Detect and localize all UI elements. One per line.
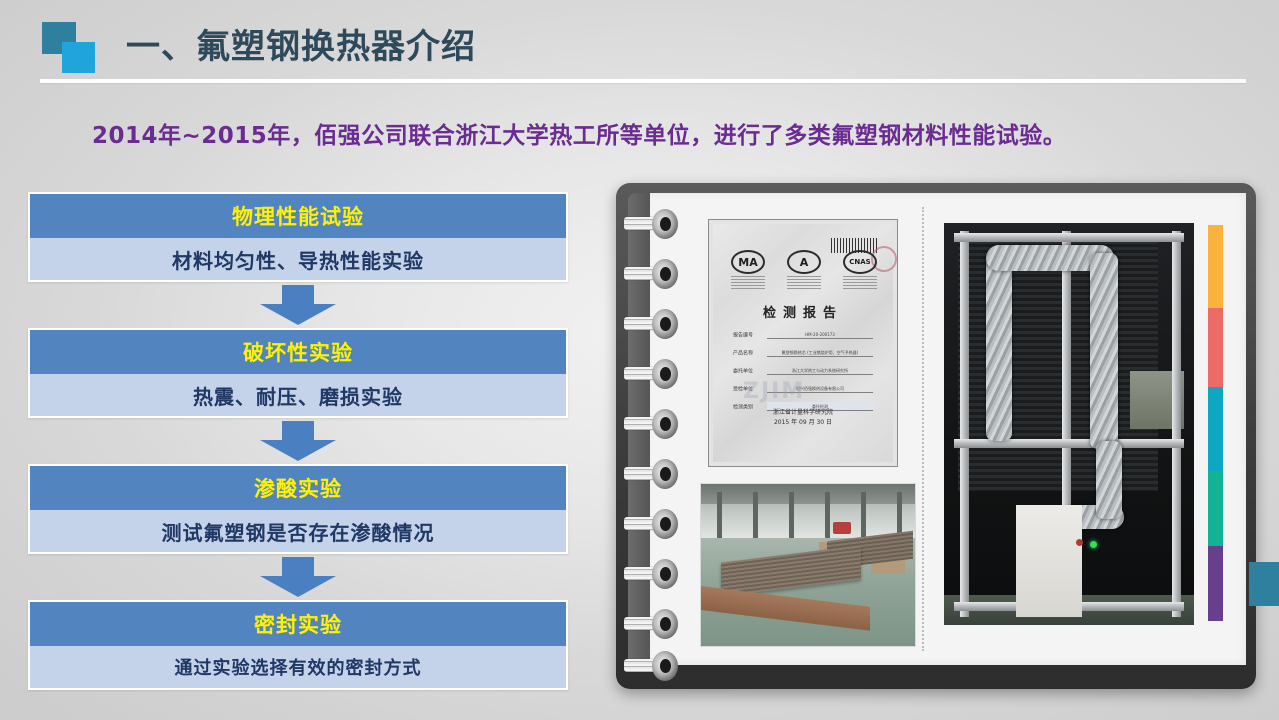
- color-segment-orange: [1208, 225, 1223, 308]
- cnas-mark-icon: CNAS: [843, 250, 877, 274]
- experiment-flowchart: 物理性能试验 材料均匀性、导热性能实验 破坏性实验 热震、耐压、磨损实验 渗酸实…: [28, 192, 568, 690]
- down-arrow-icon: [260, 285, 336, 325]
- report-field-row: 产品名称 氟塑钢换热芯 (工业燃烧炉用、空气予热器): [733, 348, 873, 357]
- color-segment-coral: [1208, 308, 1223, 387]
- cma-mark-icon: MA: [731, 250, 765, 274]
- flow-arrow-1: [28, 282, 568, 328]
- flow-step-4-desc: 通过实验选择有效的密封方式: [30, 646, 566, 688]
- flow-step-1-desc: 材料均匀性、导热性能实验: [30, 238, 566, 280]
- flow-step-3-title: 渗酸实验: [30, 466, 566, 510]
- down-arrow-icon: [260, 421, 336, 461]
- flow-step-2: 破坏性实验 热震、耐压、磨损实验: [28, 328, 568, 418]
- flow-step-2-title: 破坏性实验: [30, 330, 566, 374]
- spiral-binding-icon: [622, 209, 692, 669]
- report-date: 2015 年 09 月 30 日: [713, 418, 893, 428]
- notebook-page: MA A CNAS 检测报告 报告编: [644, 193, 1246, 665]
- color-segment-purple: [1208, 546, 1223, 621]
- edge-accent-square: [1249, 562, 1279, 606]
- flow-step-3-desc: 测试氟塑钢是否存在渗酸情况: [30, 510, 566, 552]
- notebook-photo-panel: MA A CNAS 检测报告 报告编: [616, 183, 1256, 689]
- color-segment-teal: [1208, 471, 1223, 546]
- report-fields: 报告编号 HM-20-200173 产品名称 氟塑钢换热芯 (工业燃烧炉用、空气…: [733, 330, 873, 420]
- report-heading: 检测报告: [713, 302, 893, 321]
- report-field-row: 报告编号 HM-20-200173: [733, 330, 873, 339]
- title-decor-square-light: [62, 42, 95, 73]
- flow-step-1: 物理性能试验 材料均匀性、导热性能实验: [28, 192, 568, 282]
- page-divider: [922, 207, 924, 651]
- report-field-row: 委托单位 浙江大学热工与动力系统研究所: [733, 366, 873, 375]
- flow-arrow-2: [28, 418, 568, 464]
- photo-factory-workshop: [700, 483, 916, 647]
- certification-marks: MA A CNAS: [731, 250, 877, 274]
- cal-mark-icon: A: [787, 250, 821, 274]
- flow-step-2-desc: 热震、耐压、磨损实验: [30, 374, 566, 416]
- flow-step-4-title: 密封实验: [30, 602, 566, 646]
- title-divider: [40, 79, 1246, 83]
- report-footer: 浙江省计量科学研究院 2015 年 09 月 30 日: [713, 408, 893, 428]
- flow-step-3: 渗酸实验 测试氟塑钢是否存在渗酸情况: [28, 464, 568, 554]
- flow-arrow-3: [28, 554, 568, 600]
- down-arrow-icon: [260, 557, 336, 597]
- flow-step-1-title: 物理性能试验: [30, 194, 566, 238]
- flow-step-4: 密封实验 通过实验选择有效的密封方式: [28, 600, 568, 690]
- report-watermark: ZJIM: [743, 379, 805, 404]
- subtitle-text: 2014年~2015年，佰强公司联合浙江大学热工所等单位，进行了多类氟塑钢材料性…: [92, 116, 1066, 150]
- page-title: 一、氟塑钢换热器介绍: [126, 19, 476, 68]
- color-legend-bar: [1208, 225, 1223, 621]
- photo-test-report: MA A CNAS 检测报告 报告编: [708, 219, 898, 467]
- color-segment-cyan: [1208, 387, 1223, 470]
- photo-test-apparatus: [944, 223, 1194, 625]
- report-issuer: 浙江省计量科学研究院: [713, 408, 893, 418]
